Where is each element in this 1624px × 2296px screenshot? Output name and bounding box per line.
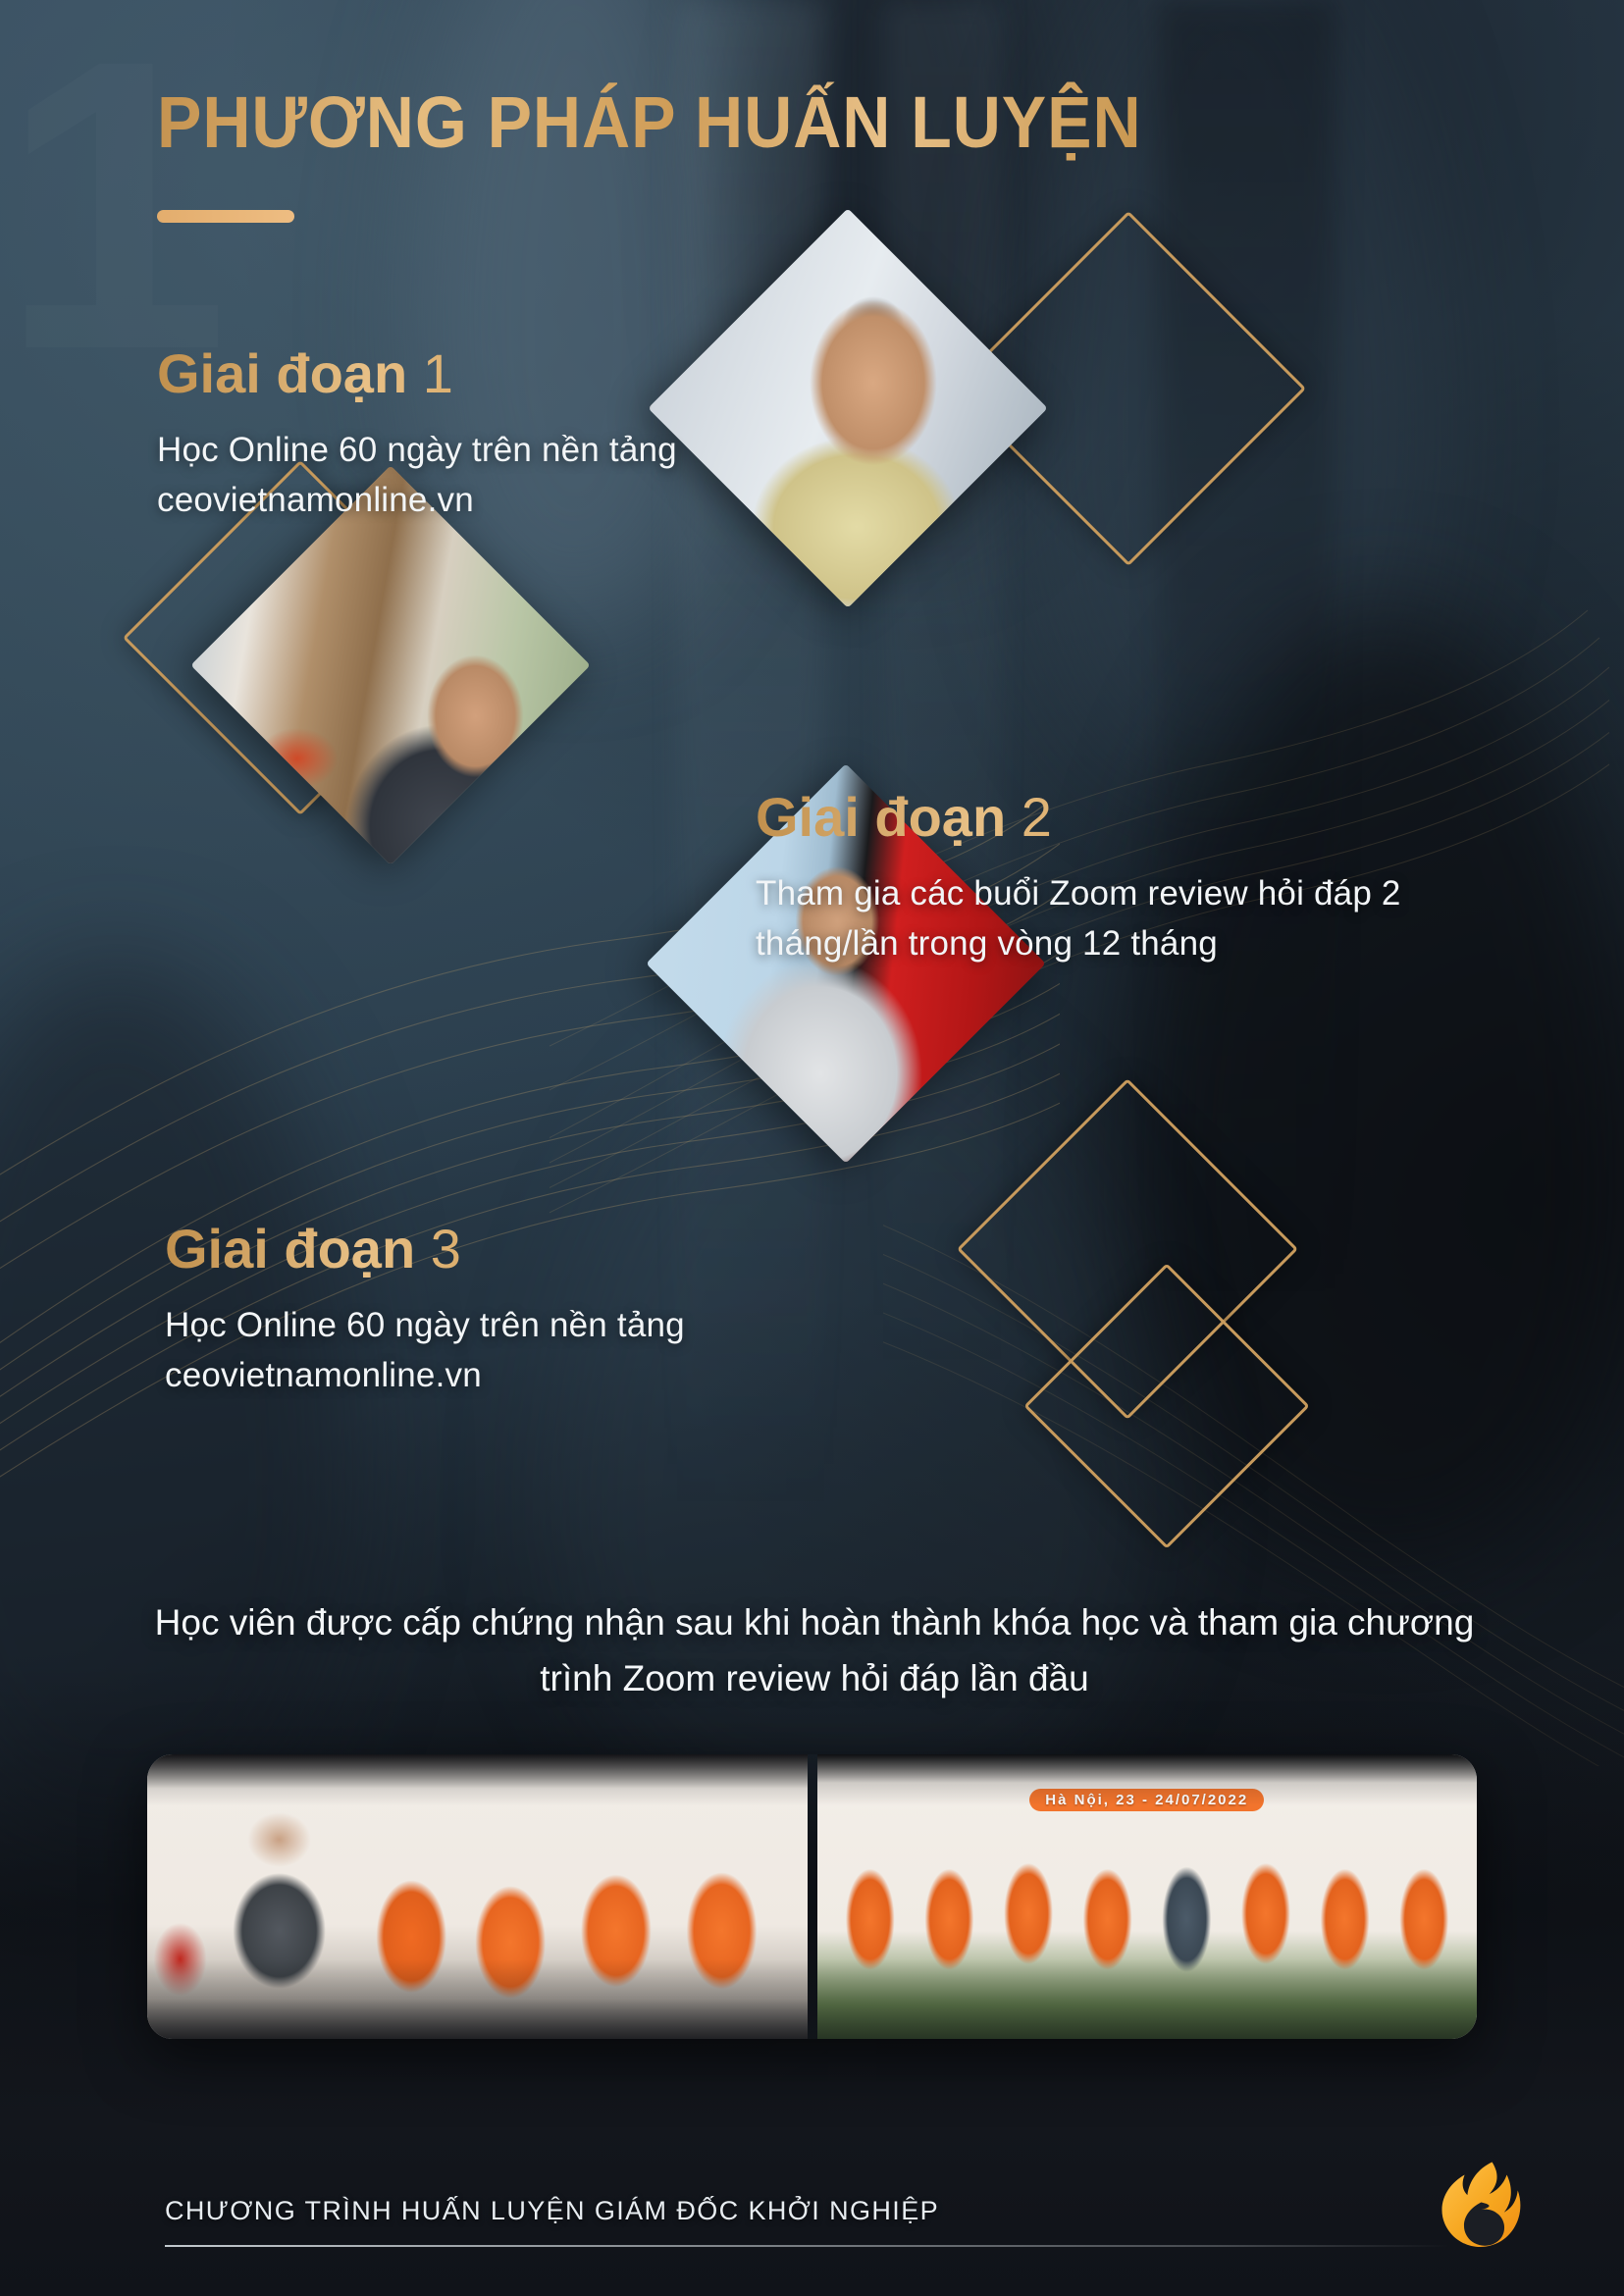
page-title: PHƯƠNG PHÁP HUẤN LUYỆN (157, 80, 1142, 164)
stage-2-number: 2 (1022, 786, 1052, 848)
stage-1-heading: Giai đoạn 1 (157, 341, 864, 405)
event-banner-label: Hà Nội, 23 - 24/07/2022 (1029, 1789, 1264, 1811)
footer-label: CHƯƠNG TRÌNH HUẤN LUYỆN GIÁM ĐỐC KHỞI NG… (165, 2196, 939, 2226)
stage-1-body: Học Online 60 ngày trên nền tảng ceoviet… (157, 425, 864, 525)
stage-2-heading-label: Giai đoạn (756, 786, 1006, 848)
stage-2-body: Tham gia các buổi Zoom review hỏi đáp 2 … (756, 868, 1482, 968)
stage-1-number: 1 (423, 342, 453, 404)
stage-3-number: 3 (431, 1218, 461, 1279)
ceremony-photo-left (147, 1754, 808, 2039)
event-banner-text: Hà Nội, 23 - 24/07/2022 (817, 1792, 1478, 1808)
stage-3-heading: Giai đoạn 3 (165, 1217, 832, 1280)
certificate-caption: Học viên được cấp chứng nhận sau khi hoà… (137, 1594, 1492, 1707)
stage-1-block: Giai đoạn 1 Học Online 60 ngày trên nền … (157, 341, 864, 525)
flame-logo-icon (1441, 2155, 1533, 2265)
stage-2-heading: Giai đoạn 2 (756, 785, 1482, 849)
stage-2-block: Giai đoạn 2 Tham gia các buổi Zoom revie… (756, 785, 1482, 968)
photo-overlay (147, 1754, 808, 2039)
footer: CHƯƠNG TRÌNH HUẤN LUYỆN GIÁM ĐỐC KHỞI NG… (165, 2196, 939, 2226)
title-underline-rule (157, 210, 294, 223)
footer-rule (165, 2245, 1450, 2247)
stage-3-heading-label: Giai đoạn (165, 1218, 415, 1279)
photo-strip: Hà Nội, 23 - 24/07/2022 (147, 1754, 1477, 2039)
stage-3-block: Giai đoạn 3 Học Online 60 ngày trên nền … (165, 1217, 832, 1400)
stage-1-heading-label: Giai đoạn (157, 342, 407, 404)
swirl-line-pattern (0, 608, 1060, 1609)
ceremony-photo-right: Hà Nội, 23 - 24/07/2022 (817, 1754, 1478, 2039)
poster-canvas: 1 1 PHƯƠNG PHÁP HUẤN LUYỆN Giai đoạn 1 H… (0, 0, 1624, 2296)
stage-3-body: Học Online 60 ngày trên nền tảng ceoviet… (165, 1300, 832, 1400)
